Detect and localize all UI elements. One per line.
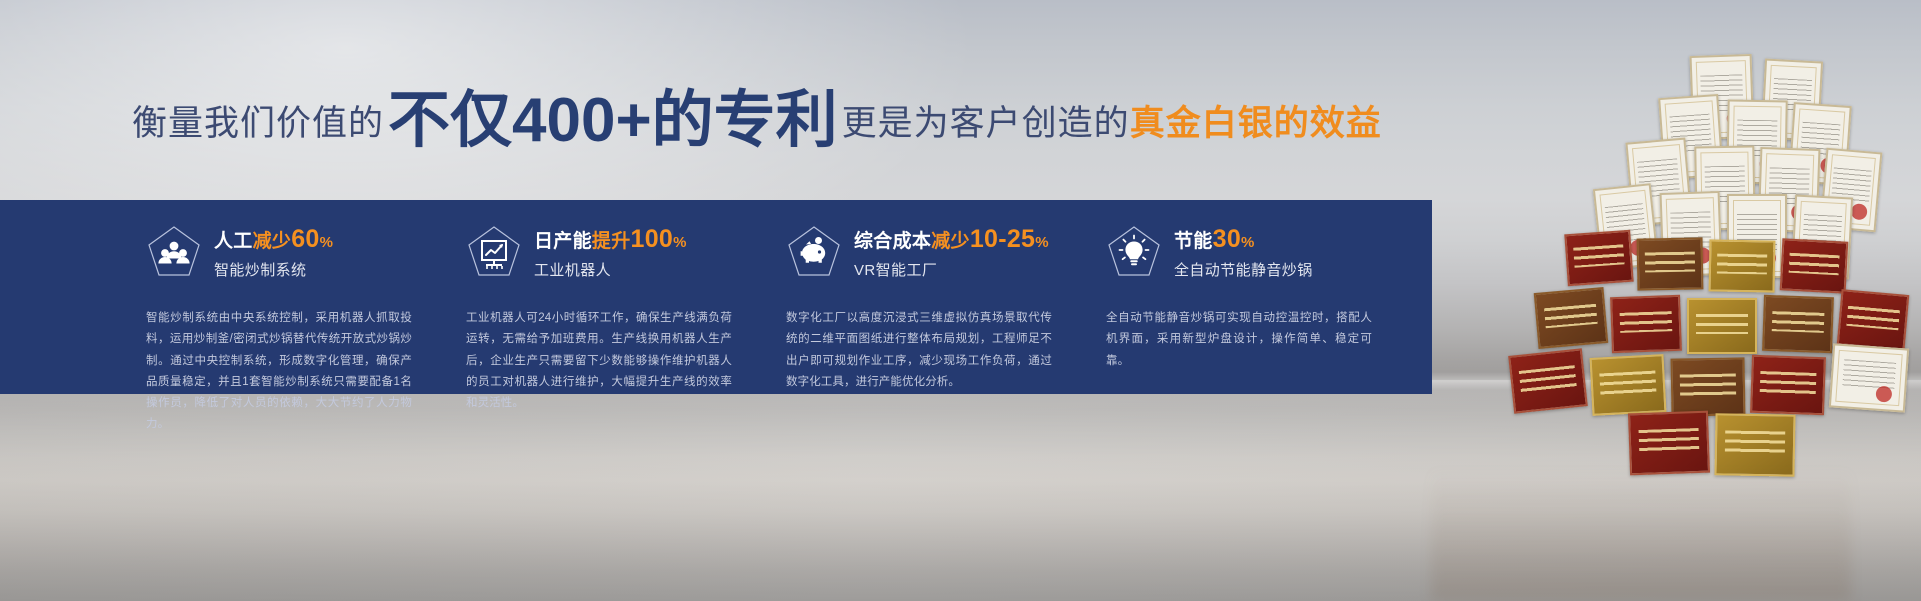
feature-header: 日产能提升100% 工业机器人 (466, 222, 742, 288)
feature-title-highlight: 减少 (253, 231, 292, 252)
feature-title-unit: % (1241, 234, 1255, 251)
feature-header: 节能30% 全自动节能静音炒锅 (1106, 222, 1382, 288)
feature-panel-inner: 人工减少60% 智能炒制系统 智能炒制系统由中央系统控制，采用机器人抓取投料，运… (146, 222, 1426, 382)
headline-lead: 衡量我们价值的 (132, 95, 384, 146)
feature-title: 日产能提升100% (534, 225, 687, 254)
feature-title-number: 10-25 (970, 225, 1035, 253)
feature-subtitle: 工业机器人 (534, 259, 687, 280)
feature-body: 全自动节能静音炒锅可实现自动控温控时，搭配人机界面，采用新型炉盘设计，操作简单、… (1106, 308, 1382, 372)
piggy-bank-icon (786, 224, 842, 280)
lightbulb-icon (1106, 224, 1162, 280)
chart-monitor-icon (466, 224, 522, 280)
feature-header: 综合成本减少10-25% VR智能工厂 (786, 222, 1062, 288)
feature-title-number: 60 (291, 225, 319, 253)
feature-titles: 日产能提升100% 工业机器人 (534, 222, 687, 280)
feature-panel: 人工减少60% 智能炒制系统 智能炒制系统由中央系统控制，采用机器人抓取投料，运… (0, 200, 1432, 394)
headline-emphasis: 不仅400+的专利 (384, 90, 842, 152)
feature-title: 综合成本减少10-25% (854, 225, 1049, 254)
feature-titles: 人工减少60% 智能炒制系统 (214, 222, 333, 280)
feature-card-4: 节能30% 全自动节能静音炒锅 全自动节能静音炒锅可实现自动控温控时，搭配人机界… (1106, 222, 1426, 382)
feature-body: 工业机器人可24小时循环工作，确保生产线满负荷运转，无需给予加班费用。生产线换用… (466, 308, 742, 414)
feature-card-3: 综合成本减少10-25% VR智能工厂 数字化工厂以高度沉浸式三维虚拟仿真场景取… (786, 222, 1106, 382)
feature-title-number: 30 (1213, 225, 1241, 253)
feature-body: 智能炒制系统由中央系统控制，采用机器人抓取投料，运用炒制釜/密闭式炒锅替代传统开… (146, 308, 422, 436)
feature-card-2: 日产能提升100% 工业机器人 工业机器人可24小时循环工作，确保生产线满负荷运… (466, 222, 786, 382)
feature-titles: 节能30% 全自动节能静音炒锅 (1174, 222, 1313, 280)
feature-title: 节能30% (1174, 225, 1313, 254)
feature-title-unit: % (1035, 234, 1049, 251)
feature-subtitle: 全自动节能静音炒锅 (1174, 259, 1313, 280)
feature-title-number: 100 (631, 225, 674, 253)
feature-header: 人工减少60% 智能炒制系统 (146, 222, 422, 288)
feature-card-1: 人工减少60% 智能炒制系统 智能炒制系统由中央系统控制，采用机器人抓取投料，运… (146, 222, 466, 382)
page-headline: 衡量我们价值的 不仅400+的专利 更是为客户创造的 真金白银的效益 (132, 84, 1382, 140)
feature-title-unit: % (673, 234, 687, 251)
feature-subtitle: VR智能工厂 (854, 259, 1049, 280)
feature-title-unit: % (320, 234, 334, 251)
feature-titles: 综合成本减少10-25% VR智能工厂 (854, 222, 1049, 280)
people-group-icon (146, 224, 202, 280)
feature-title-highlight: 减少 (931, 231, 970, 252)
feature-subtitle: 智能炒制系统 (214, 259, 333, 280)
feature-title-highlight: 提升 (592, 231, 631, 252)
feature-body: 数字化工厂以高度沉浸式三维虚拟仿真场景取代传统的二维平面图纸进行整体布局规划，工… (786, 308, 1062, 393)
headline-middle: 更是为客户创造的 (842, 95, 1130, 146)
headline-highlight: 真金白银的效益 (1130, 95, 1382, 146)
feature-title: 人工减少60% (214, 225, 333, 254)
